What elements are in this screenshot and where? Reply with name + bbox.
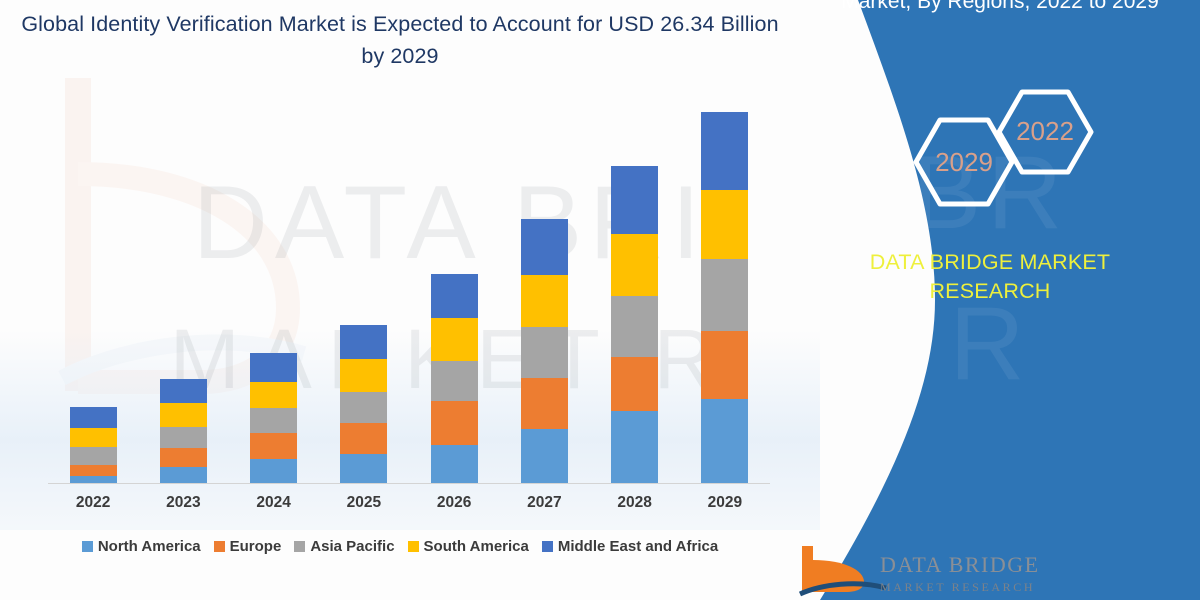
bar-segment-south-america — [701, 190, 748, 259]
bar-column — [138, 96, 228, 483]
x-axis-label-2027: 2027 — [499, 494, 589, 522]
bar-segment-south-america — [611, 234, 658, 297]
bar-column — [680, 96, 770, 483]
stacked-bar-2022 — [70, 407, 117, 483]
hexagon-2022-label: 2022 — [1016, 116, 1074, 146]
legend-swatch-north-america — [82, 541, 93, 552]
legend-label: Middle East and Africa — [558, 538, 718, 555]
brand-line-2: RESEARCH — [790, 277, 1190, 306]
legend-swatch-asia-pacific — [294, 541, 305, 552]
x-axis-label-2024: 2024 — [229, 494, 319, 522]
bar-segment-north-america — [160, 467, 207, 483]
bar-segment-europe — [160, 448, 207, 467]
bar-segment-north-america — [521, 429, 568, 483]
bar-segment-europe — [701, 331, 748, 399]
legend-item[interactable]: Asia Pacific — [294, 538, 394, 555]
legend-item[interactable]: Middle East and Africa — [542, 538, 718, 555]
bar-segment-north-america — [611, 411, 658, 483]
bar-segment-europe — [250, 433, 297, 458]
page-title: Global Identity Verification Market is E… — [20, 8, 780, 72]
bar-segment-middle-east-and-africa — [340, 325, 387, 359]
bar-segment-south-america — [431, 318, 478, 360]
bar-segment-north-america — [70, 476, 117, 483]
footer-logo-text: DATA BRIDGE — [880, 552, 1040, 577]
bar-segment-south-america — [160, 403, 207, 426]
hexagon-2029-icon: 2029 — [916, 120, 1012, 204]
legend-item[interactable]: South America — [408, 538, 529, 555]
bar-segment-south-america — [250, 382, 297, 407]
stacked-bar-2023 — [160, 379, 207, 483]
brand-name: DATA BRIDGE MARKET RESEARCH — [790, 248, 1190, 306]
stacked-bar-2029 — [701, 112, 748, 483]
footer-logo-bridge-icon — [800, 546, 886, 594]
legend-swatch-europe — [214, 541, 225, 552]
legend-item[interactable]: North America — [82, 538, 201, 555]
x-axis-label-2022: 2022 — [48, 494, 138, 522]
bar-segment-middle-east-and-africa — [250, 353, 297, 382]
bar-segment-south-america — [70, 428, 117, 447]
legend-label: Europe — [230, 538, 282, 555]
bar-column — [48, 96, 138, 483]
bar-segment-asia-pacific — [340, 392, 387, 423]
legend-label: North America — [98, 538, 201, 555]
stacked-bar-chart: 20222023202420252026202720282029 — [0, 96, 800, 496]
brand-line-1: DATA BRIDGE MARKET — [790, 248, 1190, 277]
bar-column — [590, 96, 680, 483]
x-axis-line — [48, 483, 770, 484]
bar-segment-europe — [611, 357, 658, 411]
hexagon-group-icon: 2022 2029 — [872, 78, 1132, 228]
bar-segment-middle-east-and-africa — [160, 379, 207, 403]
bar-segment-europe — [70, 465, 117, 476]
chart-legend: North AmericaEuropeAsia PacificSouth Ame… — [0, 538, 800, 555]
stacked-bar-2026 — [431, 274, 478, 483]
infographic-root: DATA BRI MARKET R Global Identity Verifi… — [0, 0, 1200, 600]
x-axis-label-2028: 2028 — [590, 494, 680, 522]
bar-segment-south-america — [340, 359, 387, 392]
bar-segment-asia-pacific — [70, 447, 117, 465]
stacked-bar-2025 — [340, 325, 387, 483]
bar-segment-asia-pacific — [701, 259, 748, 331]
bar-column — [409, 96, 499, 483]
panel-heading: Market, By Regions, 2022 to 2029 — [810, 0, 1190, 17]
bar-segment-middle-east-and-africa — [70, 407, 117, 428]
x-axis-labels: 20222023202420252026202720282029 — [48, 494, 770, 522]
legend-swatch-middle-east-and-africa — [542, 541, 553, 552]
stacked-bar-2024 — [250, 353, 297, 483]
bar-segment-north-america — [701, 399, 748, 483]
x-axis-label-2026: 2026 — [409, 494, 499, 522]
bar-segment-north-america — [431, 445, 478, 483]
bar-segment-middle-east-and-africa — [431, 274, 478, 319]
bar-segment-north-america — [250, 459, 297, 483]
x-axis-label-2023: 2023 — [138, 494, 228, 522]
legend-swatch-south-america — [408, 541, 419, 552]
footer-logo: DATA BRIDGE MARKET RESEARCH — [792, 542, 1092, 600]
bar-segment-asia-pacific — [160, 427, 207, 448]
bar-segment-middle-east-and-africa — [521, 219, 568, 275]
bar-column — [499, 96, 589, 483]
bar-segment-europe — [521, 378, 568, 429]
legend-item[interactable]: Europe — [214, 538, 282, 555]
bars-container — [48, 96, 770, 483]
bar-segment-middle-east-and-africa — [701, 112, 748, 190]
bar-column — [319, 96, 409, 483]
bar-segment-north-america — [340, 454, 387, 483]
bar-segment-south-america — [521, 275, 568, 327]
stacked-bar-2028 — [611, 166, 658, 483]
bar-segment-asia-pacific — [611, 296, 658, 357]
bar-segment-middle-east-and-africa — [611, 166, 658, 234]
bar-segment-europe — [431, 401, 478, 444]
bar-segment-europe — [340, 423, 387, 455]
legend-label: Asia Pacific — [310, 538, 394, 555]
bar-segment-asia-pacific — [431, 361, 478, 401]
year-hexagons: 2022 2029 — [872, 78, 1132, 228]
right-panel: BR R Market, By Regions, 2022 to 2029 20… — [780, 0, 1200, 600]
x-axis-label-2025: 2025 — [319, 494, 409, 522]
stacked-bar-2027 — [521, 219, 568, 483]
bar-column — [229, 96, 319, 483]
legend-label: South America — [424, 538, 529, 555]
x-axis-label-2029: 2029 — [680, 494, 770, 522]
bar-segment-asia-pacific — [521, 327, 568, 378]
bar-segment-asia-pacific — [250, 408, 297, 433]
hexagon-2029-label: 2029 — [935, 147, 993, 177]
footer-logo-subtext: MARKET RESEARCH — [880, 580, 1035, 594]
